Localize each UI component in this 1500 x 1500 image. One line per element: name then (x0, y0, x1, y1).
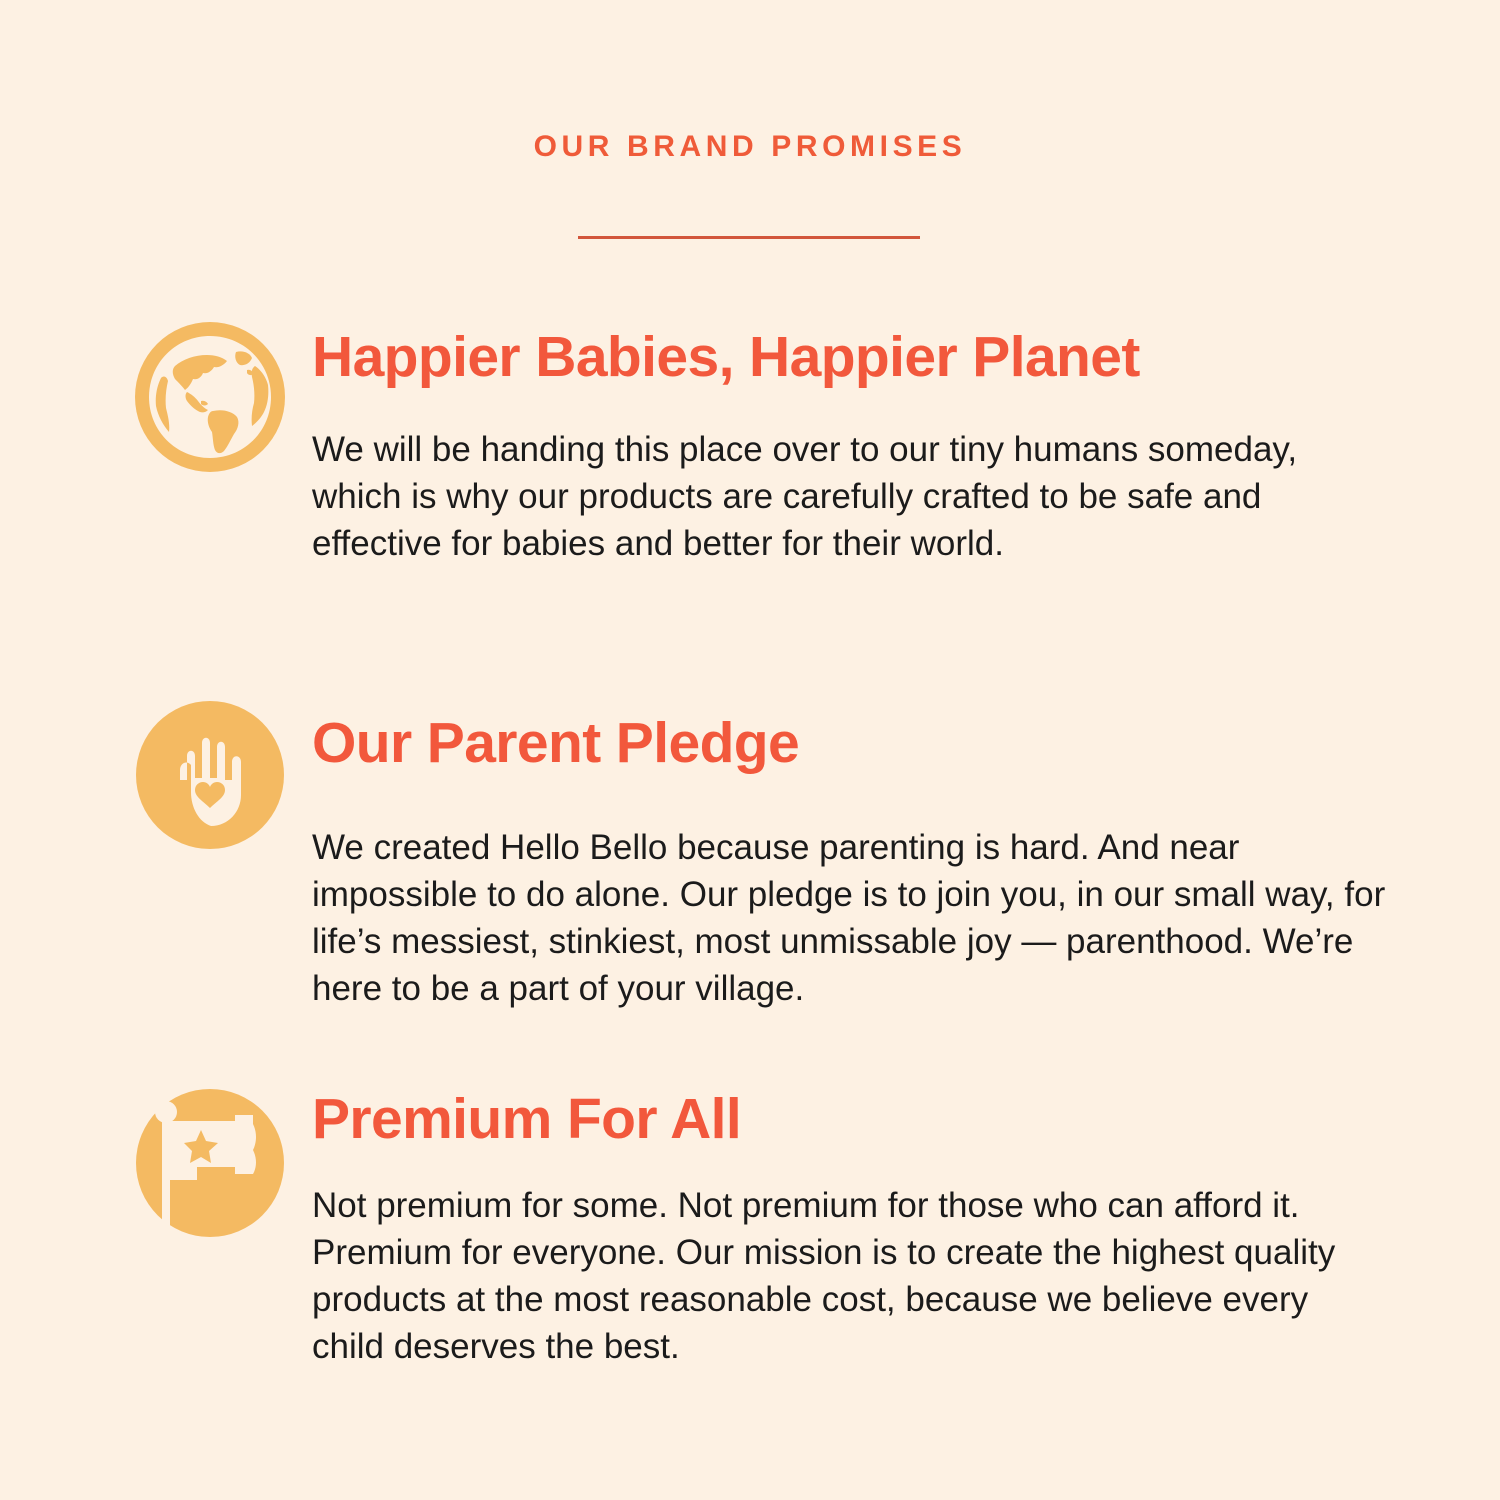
header-divider (578, 236, 920, 239)
promise-content-2: Our Parent Pledge We created Hello Bello… (312, 700, 1387, 1013)
hand-heart-icon (135, 700, 285, 850)
promise-content-1: Happier Babies, Happier Planet We will b… (312, 322, 1387, 568)
brand-promises-page: OUR BRAND PROMISES (0, 0, 1500, 1500)
flag-star-icon (135, 1088, 285, 1238)
promise-body-1: We will be handing this place over to ou… (312, 427, 1387, 568)
promise-heading-2: Our Parent Pledge (312, 714, 1387, 773)
globe-icon (135, 322, 285, 472)
promise-heading-1: Happier Babies, Happier Planet (312, 328, 1387, 387)
page-eyebrow-title: OUR BRAND PROMISES (0, 130, 1500, 164)
promise-heading-3: Premium For All (312, 1090, 1387, 1149)
promise-body-2: We created Hello Bello because parenting… (312, 825, 1387, 1013)
promise-body-3: Not premium for some. Not premium for th… (312, 1183, 1387, 1371)
promise-content-3: Premium For All Not premium for some. No… (312, 1088, 1387, 1371)
